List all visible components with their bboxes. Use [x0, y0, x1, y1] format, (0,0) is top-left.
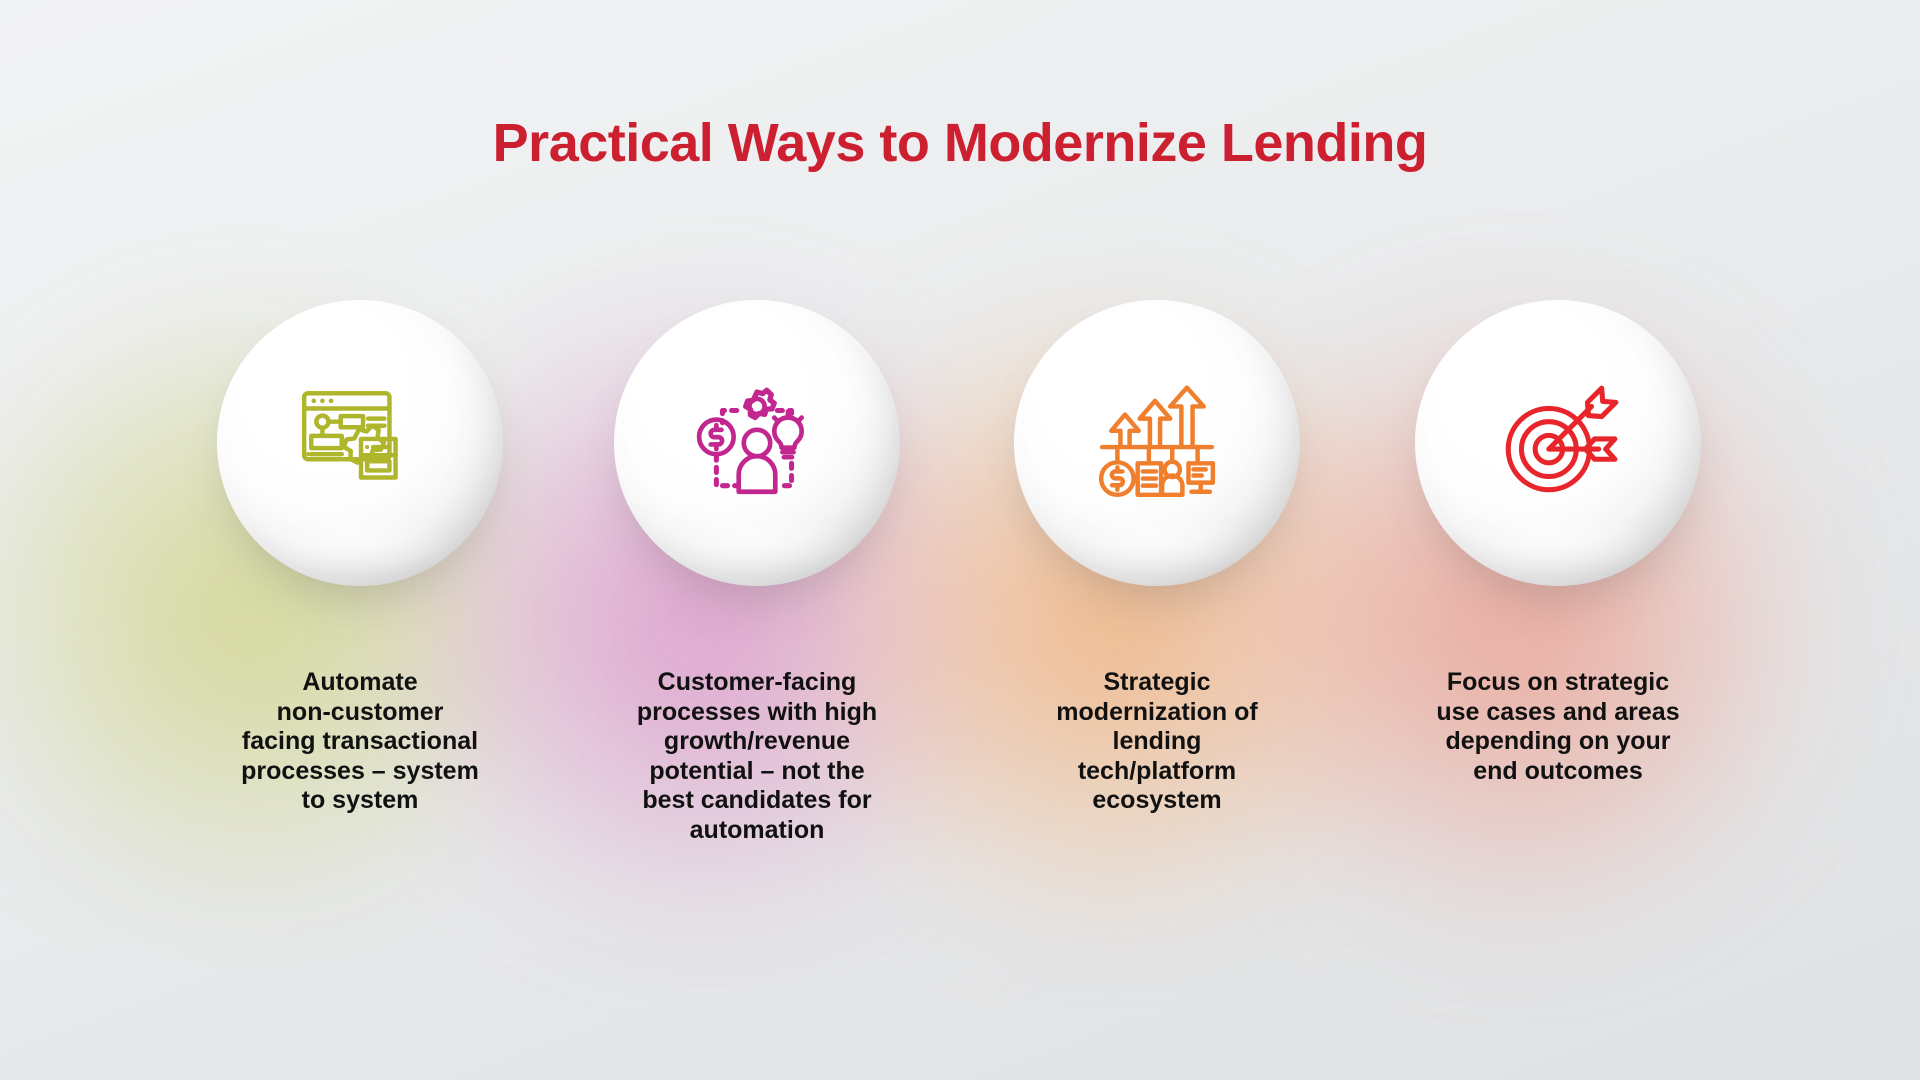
person-gear-money-idea-icon — [692, 378, 822, 508]
item-caption: Customer-facing processes with high grow… — [597, 668, 917, 845]
workflow-browser-gear-icon — [295, 378, 425, 508]
item-caption: Focus on strategic use cases and areas d… — [1398, 668, 1718, 786]
item-card-automate: Automate non-customer facing transaction… — [200, 300, 520, 816]
target-arrows-icon — [1493, 378, 1623, 508]
item-card-strategic-modernization: Strategic modernization of lending tech/… — [997, 300, 1317, 816]
item-card-customer-facing: Customer-facing processes with high grow… — [597, 300, 917, 845]
sphere-3 — [1014, 300, 1300, 586]
item-caption: Automate non-customer facing transaction… — [200, 668, 520, 816]
page-title: Practical Ways to Modernize Lending — [0, 112, 1920, 174]
sphere-2 — [614, 300, 900, 586]
sphere-4 — [1415, 300, 1701, 586]
item-caption: Strategic modernization of lending tech/… — [997, 668, 1317, 816]
sphere-1 — [217, 300, 503, 586]
item-card-focus-strategic: Focus on strategic use cases and areas d… — [1398, 300, 1718, 786]
slide-canvas: Practical Ways to Modernize Lending — [0, 0, 1920, 1080]
growth-arrows-platform-icon — [1092, 378, 1222, 508]
